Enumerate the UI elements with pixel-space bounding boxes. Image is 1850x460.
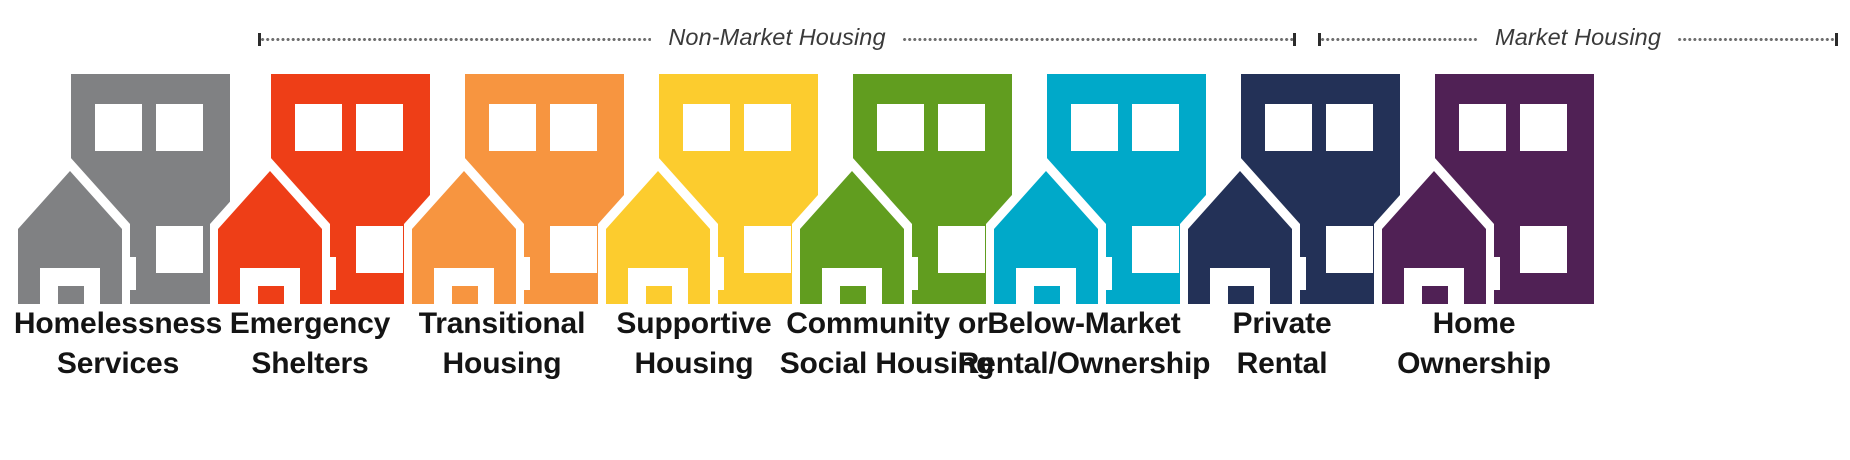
back-window-lower-right (744, 226, 791, 273)
house-icon-below-market-rental-ownership (984, 72, 1206, 304)
back-window-lower-right (550, 226, 597, 273)
bracket-dotted-line-right (903, 33, 1293, 46)
front-house-door (452, 286, 478, 304)
front-house-door (258, 286, 284, 304)
front-house-door (646, 286, 672, 304)
label-line-2: Ownership (1350, 344, 1598, 384)
bracket-end-cap-right (1293, 33, 1296, 46)
back-window-lower-right (156, 226, 203, 273)
house-icon-transitional-housing (402, 72, 624, 304)
back-window-lower-right (1520, 226, 1567, 273)
house-glyph (402, 72, 624, 304)
house-glyph (1372, 72, 1594, 304)
back-window-upper-right (1132, 104, 1179, 151)
house-glyph (8, 72, 230, 304)
back-window-upper-right (550, 104, 597, 151)
front-house-door (1228, 286, 1254, 304)
back-window-lower-right (1132, 226, 1179, 273)
back-window-lower-right (1326, 226, 1373, 273)
house-glyph (596, 72, 818, 304)
house-icon-private-rental (1178, 72, 1400, 304)
back-window-upper-right (744, 104, 791, 151)
house-icon-homelessness-services (8, 72, 230, 304)
housing-continuum-diagram: Non-Market HousingMarket Housing Homeles… (0, 0, 1850, 460)
back-window-lower-right (938, 226, 985, 273)
front-house-door (1034, 286, 1060, 304)
back-window-lower-right (356, 226, 403, 273)
front-house-door (58, 286, 84, 304)
back-window-upper-right (156, 104, 203, 151)
house-icon-community-or-social-housing (790, 72, 1012, 304)
house-glyph (984, 72, 1206, 304)
bracket-dotted-line-left (261, 33, 651, 46)
bracket-dotted-line-right (1678, 33, 1835, 46)
bracket-dotted-line-left (1321, 33, 1478, 46)
back-window-upper-left (1071, 104, 1118, 151)
back-window-upper-left (1265, 104, 1312, 151)
label-home-ownership: HomeOwnership (1350, 304, 1598, 383)
back-window-upper-left (95, 104, 142, 151)
bracket-non-market-housing: Non-Market Housing (258, 26, 1296, 52)
house-icon-emergency-shelters (208, 72, 430, 304)
back-window-upper-left (489, 104, 536, 151)
back-window-upper-right (938, 104, 985, 151)
house-glyph (1178, 72, 1400, 304)
house-icon-supportive-housing (596, 72, 818, 304)
house-icons-row (0, 72, 1850, 304)
bracket-label: Non-Market Housing (651, 26, 902, 50)
category-labels-row: HomelessnessServicesEmergencySheltersTra… (0, 304, 1850, 460)
front-house-door (1422, 286, 1448, 304)
bracket-market-housing: Market Housing (1318, 26, 1838, 52)
back-window-upper-right (1520, 104, 1567, 151)
back-window-upper-right (1326, 104, 1373, 151)
back-window-upper-left (295, 104, 342, 151)
bracket-band: Non-Market HousingMarket Housing (0, 0, 1850, 72)
back-window-upper-left (683, 104, 730, 151)
front-house-door (840, 286, 866, 304)
house-icon-home-ownership (1372, 72, 1594, 304)
label-line-1: Home (1350, 304, 1598, 344)
back-window-upper-left (1459, 104, 1506, 151)
bracket-label: Market Housing (1478, 26, 1678, 50)
house-glyph (208, 72, 430, 304)
back-window-upper-right (356, 104, 403, 151)
back-window-upper-left (877, 104, 924, 151)
house-glyph (790, 72, 1012, 304)
bracket-end-cap-right (1835, 33, 1838, 46)
